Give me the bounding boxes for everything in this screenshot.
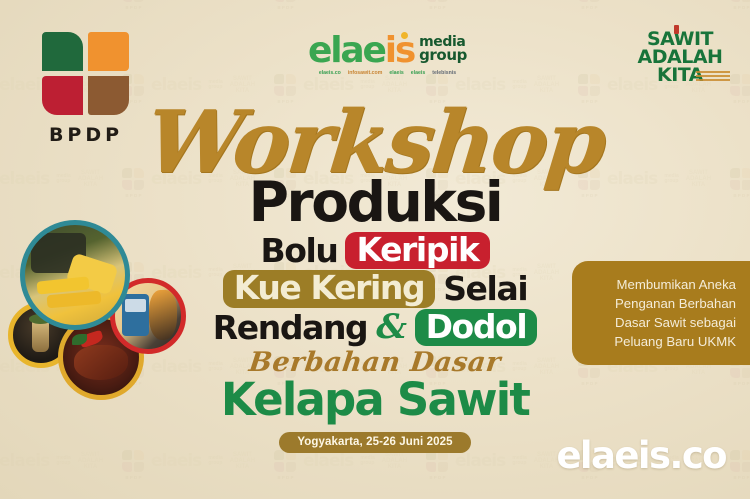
ampersand-symbol: & [375,310,406,345]
watermark-bpdp-mark [730,0,750,2]
watermark-media-group: mediagroup [512,80,526,91]
elaeis-word-part3: i [385,30,395,71]
footer-brand-elaeis-co: elaeis.co [556,434,726,477]
watermark-tile: BPDPelaeismediagroupSAWITADALAHKITA [730,0,750,2]
elaeis-word-part2: e [363,30,385,71]
event-date-badge: Yogyakarta, 25-26 Juni 2025 [279,432,470,453]
watermark-tile: BPDPelaeismediagroupSAWITADALAHKITA [426,0,559,2]
product-rendang: Rendang [213,311,368,345]
group-label: group [419,49,467,63]
watermark-sawit-adalah-kita: SAWITADALAHKITA [78,452,103,470]
sawit-adalah-kita-badge: SAWIT ADALAH KITA [628,30,732,84]
elaeis-wordmark: elaeis media group [290,34,485,67]
watermark-bpdp-label: BPDP [122,475,146,480]
subbrand-telebisnis: telebisnis [432,70,456,76]
watermark-tile: BPDPelaeismediagroupSAWITADALAHKITA [274,0,407,2]
rendang-meat-shape [74,345,129,380]
watermark-bpdp-label: BPDP [426,475,450,480]
watermark-sawit-adalah-kita: SAWITADALAHKITA [230,452,255,470]
watermark-bpdp-label: BPDP [122,5,146,10]
watermark-bpdp-mark [730,74,750,96]
watermark-elaeis: elaeis [303,451,353,471]
watermark-elaeis: elaeis [0,451,49,471]
watermark-elaeis: elaeis [455,451,505,471]
watermark-bpdp-label: BPDP [730,475,750,480]
watermark-bpdp-label: BPDP [274,5,298,10]
subbrand-infosawit: infosawit.com [348,70,383,76]
elaeis-subbrand-row: elaeis.co infosawit.com elaeis elaeis te… [290,70,485,76]
elaeis-media-group-logo: elaeis media group elaeis.co infosawit.c… [290,34,485,76]
sak-stripe-decoration [696,71,730,83]
watermark-bpdp-label: BPDP [274,475,298,480]
poster-canvas: BPDPelaeismediagroupSAWITADALAHKITABPDPe… [0,0,750,499]
elaeis-word: elaeis [308,34,414,67]
watermark-tile: BPDPelaeismediagroupSAWITADALAHKITA [730,74,750,96]
drink-glass-shape [32,320,49,351]
watermark-media-group: mediagroup [208,80,222,91]
watermark-tile: BPDPelaeismediagroupSAWITADALAHKITA [0,0,103,2]
watermark-tile: BPDPelaeismediagroupSAWITADALAHKITA [122,0,255,2]
bpdp-square-orange [88,32,129,71]
watermark-bpdp-mark [122,0,144,2]
bolu-slice-2 [47,291,102,309]
product-bolu: Bolu [260,234,337,268]
info-callout-text: Membumikan Aneka Penganan Berbahan Dasar… [584,275,736,352]
media-group-wordmark: media group [419,36,467,67]
product-keripik: Keripik [345,232,489,270]
bolu-sawit-photo [20,220,130,330]
watermark-elaeis: elaeis [151,451,201,471]
product-selai: Selai [443,272,527,306]
watermark-bpdp-label: BPDP [578,5,602,10]
watermark-tile: BPDPelaeismediagroupSAWITADALAHKITA [578,0,711,2]
watermark-bpdp-mark [578,0,600,2]
watermark-bpdp-mark [274,0,296,2]
info-callout-box: Membumikan Aneka Penganan Berbahan Dasar… [572,261,750,365]
watermark-elaeis: elaeis [455,0,505,1]
watermark-media-group: mediagroup [360,80,374,91]
watermark-bpdp-mark [426,0,448,2]
subbrand-elaeis-2: elaeis [389,70,403,76]
watermark-elaeis: elaeis [151,0,201,1]
product-kue-kering: Kue Kering [223,270,435,308]
watermark-media-group: mediagroup [208,456,222,467]
snack-package-shape [122,294,150,336]
bpdp-logo-mark [42,32,130,115]
elaeis-word-part1: ela [308,30,362,71]
watermark-media-group: mediagroup [56,456,70,467]
watermark-elaeis: elaeis [607,0,657,1]
watermark-bpdp-label: BPDP [730,99,750,104]
subbrand-elaeis-co: elaeis.co [319,70,341,76]
watermark-media-group: mediagroup [512,456,526,467]
watermark-bpdp-label: BPDP [730,5,750,10]
snack-blob-shape [149,290,177,340]
watermark-elaeis: elaeis [303,0,353,1]
product-photo-cluster [0,216,182,391]
watermark-media-group: mediagroup [360,456,374,467]
bpdp-square-green [42,32,83,71]
product-dodol: Dodol [415,309,538,347]
watermark-elaeis: elaeis [0,0,49,1]
subbrand-elaeis-3: elaeis [411,70,425,76]
sawit-accent-mark [674,25,679,34]
title-workshop: Workshop [0,108,750,179]
watermark-bpdp-label: BPDP [426,5,450,10]
watermark-sawit-adalah-kita: SAWITADALAHKITA [382,452,407,470]
